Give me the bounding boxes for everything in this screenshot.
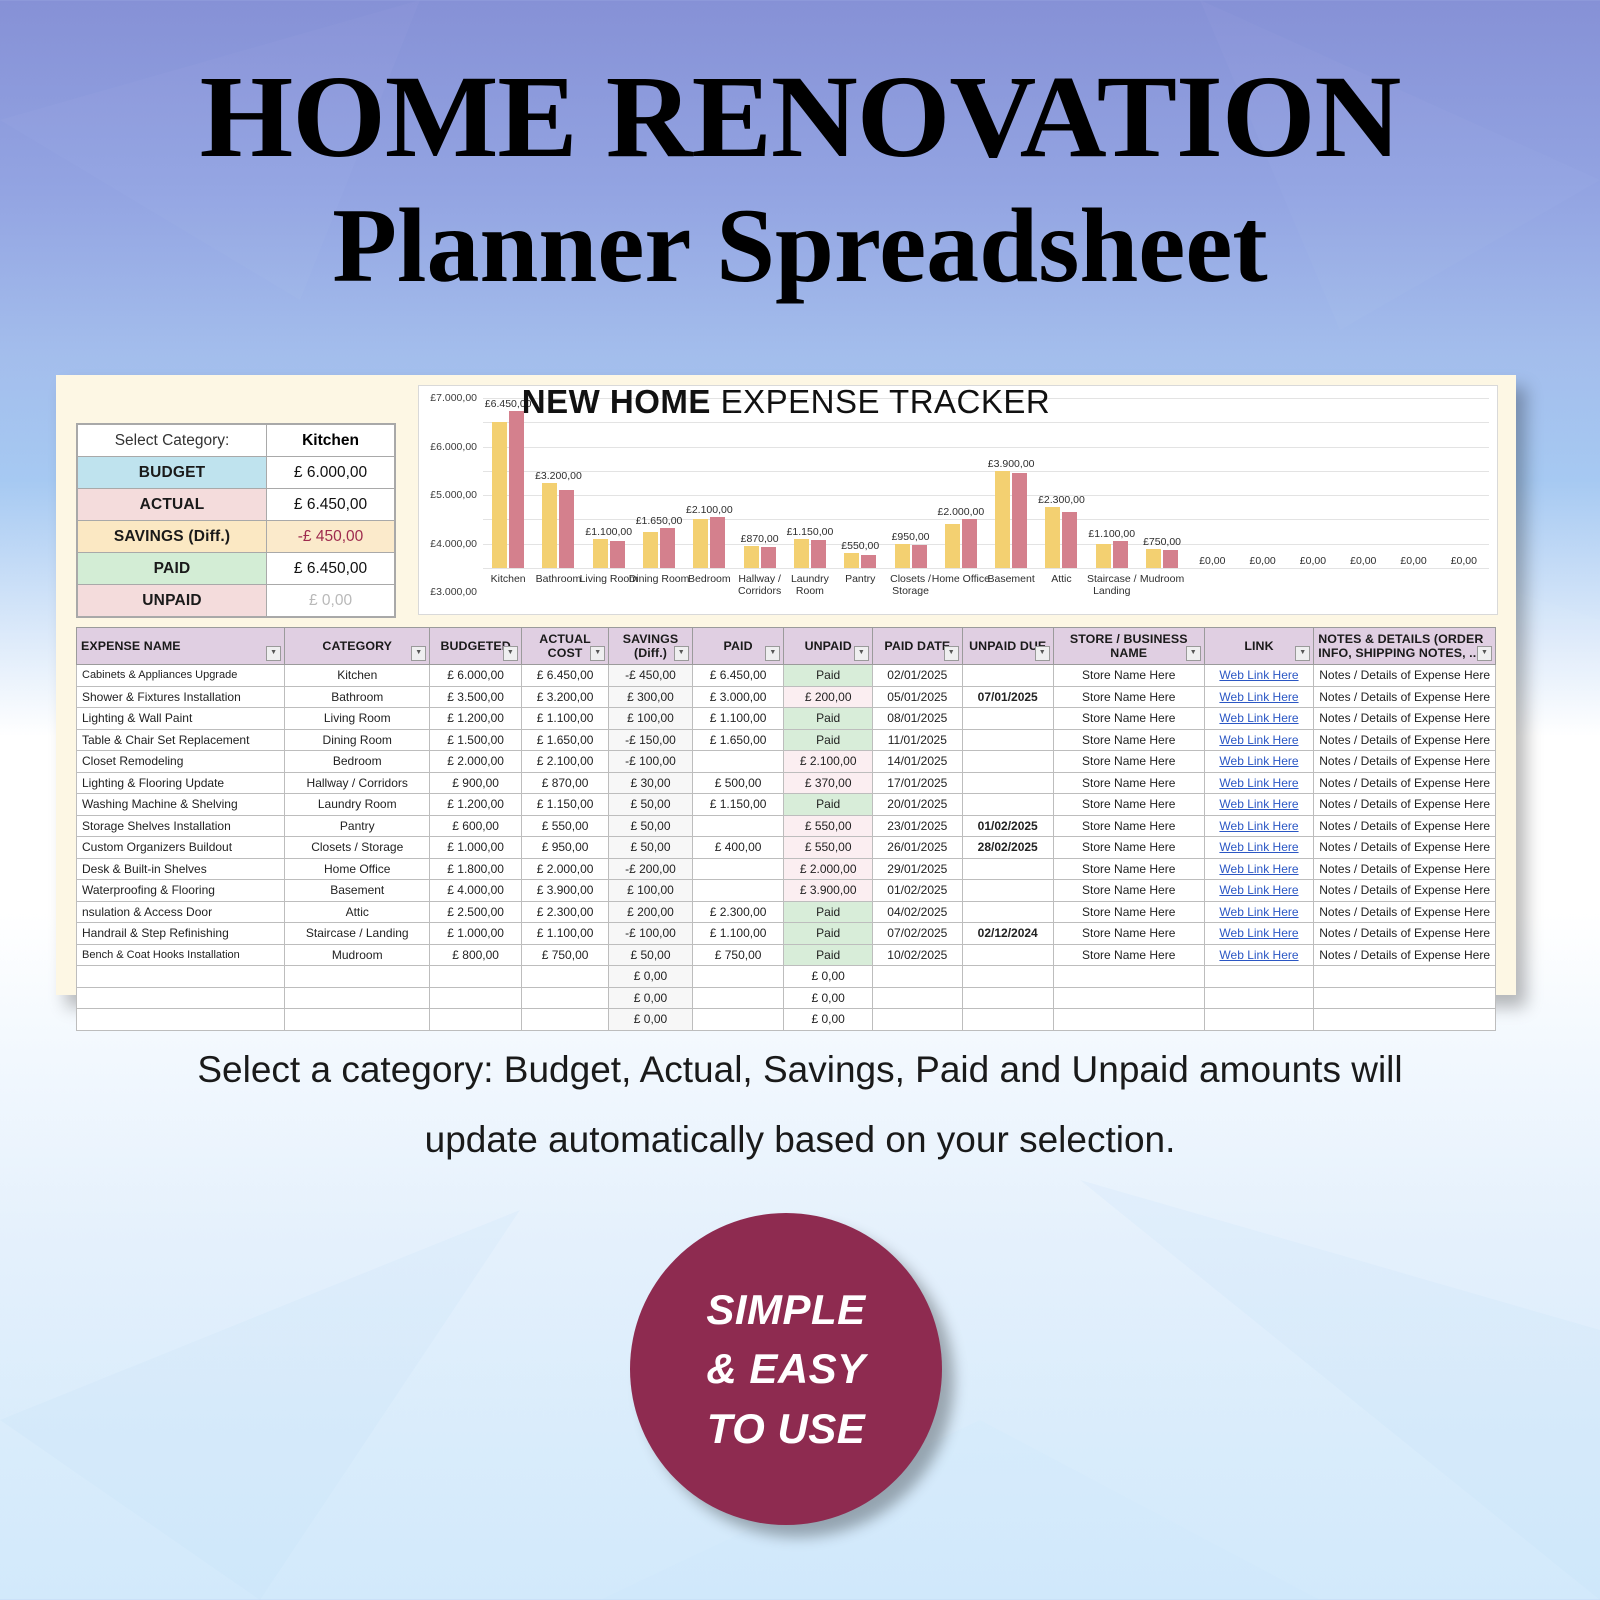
filter-icon[interactable]: ▼ [1186, 646, 1201, 661]
cell-unpaid: £ 2.100,00 [784, 751, 873, 773]
cell-store-name[interactable]: Store Name Here [1053, 729, 1204, 751]
chart-bar-group [994, 398, 1028, 568]
filter-icon[interactable]: ▼ [944, 646, 959, 661]
col-expense-name[interactable]: EXPENSE NAME▼ [77, 628, 285, 665]
category-summary-panel: Select Category: Kitchen BUDGET £ 6.000,… [76, 423, 396, 618]
cell-actual-cost[interactable]: £ 2.000,00 [521, 858, 608, 880]
filter-icon[interactable]: ▼ [590, 646, 605, 661]
cell-actual-cost[interactable]: £ 3.200,00 [521, 686, 608, 708]
chart-gridline: £1.000,00 [483, 544, 1489, 545]
cell-paid[interactable]: £ 500,00 [692, 772, 784, 794]
col-savings[interactable]: SAVINGS (Diff.)▼ [609, 628, 693, 665]
chart-data-label: £1.650,00 [636, 515, 683, 527]
cell-category[interactable] [285, 1009, 430, 1031]
cell-expense-name[interactable]: Closet Remodeling [77, 751, 285, 773]
cell-link[interactable]: Web Link Here [1204, 665, 1314, 687]
chart-y-tick: £3.000,00 [430, 586, 477, 598]
cell-notes[interactable]: Notes / Details of Expense Here [1314, 729, 1496, 751]
cell-actual-cost[interactable]: £ 6.450,00 [521, 665, 608, 687]
chart-bar-actual-cost [912, 545, 927, 568]
cell-category[interactable] [285, 966, 430, 988]
filter-icon[interactable]: ▼ [411, 646, 426, 661]
table-row[interactable]: Waterproofing & FlooringBasement£ 4.000,… [77, 880, 1496, 902]
cell-expense-name[interactable]: Handrail & Step Refinishing [77, 923, 285, 945]
spreadsheet-card: Select Category: Kitchen BUDGET £ 6.000,… [56, 375, 1516, 995]
chart-bar-budgeted [794, 539, 809, 568]
cell-category[interactable]: Closets / Storage [285, 837, 430, 859]
cell-actual-cost[interactable]: £ 1.150,00 [521, 794, 608, 816]
cell-savings: £ 100,00 [609, 880, 693, 902]
cell-actual-cost[interactable]: £ 1.100,00 [521, 923, 608, 945]
filter-icon[interactable]: ▼ [674, 646, 689, 661]
table-row[interactable]: nsulation & Access DoorAttic£ 2.500,00£ … [77, 901, 1496, 923]
cell-category[interactable]: Dining Room [285, 729, 430, 751]
filter-icon[interactable]: ▼ [266, 646, 281, 661]
cell-store-name[interactable]: Store Name Here [1053, 815, 1204, 837]
cell-paid-date[interactable]: 23/01/2025 [872, 815, 962, 837]
web-link[interactable]: Web Link Here [1219, 776, 1298, 790]
cell-link[interactable]: Web Link Here [1204, 772, 1314, 794]
cell-unpaid-due[interactable] [962, 665, 1053, 687]
cell-unpaid-due[interactable] [962, 794, 1053, 816]
cell-paid[interactable] [692, 815, 784, 837]
cell-link[interactable]: Web Link Here [1204, 858, 1314, 880]
cell-unpaid-due[interactable] [962, 880, 1053, 902]
chart-gridline: £5.000,00 [483, 447, 1489, 448]
cell-notes[interactable]: Notes / Details of Expense Here [1314, 751, 1496, 773]
cell-expense-name[interactable]: nsulation & Access Door [77, 901, 285, 923]
cell-paid[interactable] [692, 1009, 784, 1031]
cell-store-name[interactable]: Store Name Here [1053, 751, 1204, 773]
cell-unpaid-due[interactable] [962, 772, 1053, 794]
cell-expense-name[interactable]: Desk & Built-in Shelves [77, 858, 285, 880]
cell-actual-cost[interactable]: £ 550,00 [521, 815, 608, 837]
cell-expense-name[interactable]: Lighting & Wall Paint [77, 708, 285, 730]
cell-paid[interactable]: £ 1.100,00 [692, 923, 784, 945]
cell-store-name[interactable]: Store Name Here [1053, 772, 1204, 794]
cell-unpaid: £ 200,00 [784, 686, 873, 708]
table-row[interactable]: Storage Shelves InstallationPantry£ 600,… [77, 815, 1496, 837]
cell-budgeted[interactable]: £ 1.000,00 [430, 923, 522, 945]
cell-actual-cost[interactable] [521, 966, 608, 988]
col-budgeted[interactable]: BUDGETED▼ [430, 628, 522, 665]
cell-budgeted[interactable]: £ 6.000,00 [430, 665, 522, 687]
cell-store-name[interactable]: Store Name Here [1053, 837, 1204, 859]
web-link[interactable]: Web Link Here [1219, 883, 1298, 897]
web-link[interactable]: Web Link Here [1219, 926, 1298, 940]
cell-paid[interactable]: £ 1.100,00 [692, 708, 784, 730]
actual-label: ACTUAL [78, 489, 267, 521]
web-link[interactable]: Web Link Here [1219, 754, 1298, 768]
chart-data-label: £750,00 [1143, 536, 1181, 548]
chart-y-tick: £6.000,00 [430, 441, 477, 453]
cell-category[interactable]: Attic [285, 901, 430, 923]
cell-store-name[interactable] [1053, 987, 1204, 1009]
table-row[interactable]: Shower & Fixtures InstallationBathroom£ … [77, 686, 1496, 708]
cell-paid-date[interactable]: 17/01/2025 [872, 772, 962, 794]
cell-category[interactable]: Basement [285, 880, 430, 902]
cell-paid[interactable] [692, 966, 784, 988]
table-row[interactable]: Handrail & Step RefinishingStaircase / L… [77, 923, 1496, 945]
col-paid-date[interactable]: PAID DATE▼ [872, 628, 962, 665]
cell-notes[interactable] [1314, 987, 1496, 1009]
actual-value: £ 6.450,00 [267, 489, 395, 521]
cell-actual-cost[interactable]: £ 750,00 [521, 944, 608, 966]
table-row[interactable]: Lighting & Flooring UpdateHallway / Corr… [77, 772, 1496, 794]
cell-paid-date[interactable]: 04/02/2025 [872, 901, 962, 923]
cell-savings: £ 0,00 [609, 966, 693, 988]
cell-actual-cost[interactable]: £ 950,00 [521, 837, 608, 859]
web-link[interactable]: Web Link Here [1219, 819, 1298, 833]
cell-budgeted[interactable]: £ 1.500,00 [430, 729, 522, 751]
cell-expense-name[interactable]: Lighting & Flooring Update [77, 772, 285, 794]
cell-budgeted[interactable]: £ 1.200,00 [430, 708, 522, 730]
cell-unpaid-due[interactable] [962, 708, 1053, 730]
cell-budgeted[interactable]: £ 800,00 [430, 944, 522, 966]
cell-store-name[interactable]: Store Name Here [1053, 686, 1204, 708]
chart-gridline: £4.000,00 [483, 471, 1489, 472]
cell-paid[interactable]: £ 3.000,00 [692, 686, 784, 708]
chart-bar-budgeted [945, 524, 960, 568]
cell-unpaid-due[interactable] [962, 901, 1053, 923]
cell-expense-name[interactable]: Shower & Fixtures Installation [77, 686, 285, 708]
cell-category[interactable]: Staircase / Landing [285, 923, 430, 945]
cell-unpaid-due[interactable]: 07/01/2025 [962, 686, 1053, 708]
cell-budgeted[interactable] [430, 1009, 522, 1031]
unpaid-label: UNPAID [78, 585, 267, 617]
cell-paid[interactable]: £ 6.450,00 [692, 665, 784, 687]
web-link[interactable]: Web Link Here [1219, 711, 1298, 725]
chart-bar-group [541, 398, 575, 568]
savings-value: -£ 450,00 [267, 521, 395, 553]
table-header-row: EXPENSE NAME▼ CATEGORY▼ BUDGETED▼ ACTUAL… [77, 628, 1496, 665]
web-link[interactable]: Web Link Here [1219, 668, 1298, 682]
cell-link[interactable]: Web Link Here [1204, 815, 1314, 837]
cell-budgeted[interactable]: £ 1.000,00 [430, 837, 522, 859]
chart-data-label: £550,00 [841, 540, 879, 552]
cell-actual-cost[interactable]: £ 2.100,00 [521, 751, 608, 773]
cell-notes[interactable]: Notes / Details of Expense Here [1314, 708, 1496, 730]
cell-paid[interactable] [692, 858, 784, 880]
table-row[interactable]: £ 0,00£ 0,00 [77, 966, 1496, 988]
badge-line-3: TO USE [707, 1399, 866, 1459]
cell-savings: £ 100,00 [609, 708, 693, 730]
cell-notes[interactable]: Notes / Details of Expense Here [1314, 858, 1496, 880]
cell-link[interactable]: Web Link Here [1204, 729, 1314, 751]
cell-budgeted[interactable]: £ 600,00 [430, 815, 522, 837]
cell-unpaid-due[interactable]: 01/02/2025 [962, 815, 1053, 837]
cell-store-name[interactable] [1053, 966, 1204, 988]
table-row[interactable]: Custom Organizers BuildoutClosets / Stor… [77, 837, 1496, 859]
cell-unpaid-due[interactable]: 02/12/2024 [962, 923, 1053, 945]
cell-actual-cost[interactable]: £ 1.100,00 [521, 708, 608, 730]
cell-paid-date[interactable]: 20/01/2025 [872, 794, 962, 816]
cell-store-name[interactable] [1053, 1009, 1204, 1031]
summary-row-select[interactable]: Select Category: Kitchen [78, 425, 395, 457]
col-actual-cost[interactable]: ACTUAL COST▼ [521, 628, 608, 665]
cell-notes[interactable]: Notes / Details of Expense Here [1314, 944, 1496, 966]
chart-bar-actual-cost [559, 490, 574, 568]
chart-title-bold: NEW HOME [522, 383, 711, 420]
chart-bar-actual-cost [509, 411, 524, 568]
cell-category[interactable]: Bedroom [285, 751, 430, 773]
filter-icon[interactable]: ▼ [854, 646, 869, 661]
chart-bar-group [1296, 398, 1330, 568]
cell-store-name[interactable]: Store Name Here [1053, 794, 1204, 816]
cell-actual-cost[interactable]: £ 2.300,00 [521, 901, 608, 923]
chart-bar-budgeted [844, 553, 859, 568]
cell-link[interactable]: Web Link Here [1204, 901, 1314, 923]
web-link[interactable]: Web Link Here [1219, 862, 1298, 876]
cell-notes[interactable]: Notes / Details of Expense Here [1314, 901, 1496, 923]
web-link[interactable]: Web Link Here [1219, 948, 1298, 962]
chart-bar-group [1447, 398, 1481, 568]
cell-link[interactable]: Web Link Here [1204, 923, 1314, 945]
badge-line-2: & EASY [706, 1339, 865, 1399]
table-row[interactable]: £ 0,00£ 0,00 [77, 987, 1496, 1009]
chart-bar-actual-cost [1163, 550, 1178, 568]
col-link[interactable]: LINK▼ [1204, 628, 1314, 665]
table-row[interactable]: £ 0,00£ 0,00 [77, 1009, 1496, 1031]
cell-unpaid-due[interactable] [962, 966, 1053, 988]
chart-plot-area: £0,00£1.000,00£2.000,00£3.000,00£4.000,0… [483, 398, 1489, 568]
cell-notes[interactable]: Notes / Details of Expense Here [1314, 686, 1496, 708]
cell-paid-date[interactable]: 07/02/2025 [872, 923, 962, 945]
filter-icon[interactable]: ▼ [765, 646, 780, 661]
summary-row-budget: BUDGET £ 6.000,00 [78, 457, 395, 489]
cell-unpaid: £ 0,00 [784, 966, 873, 988]
chart-data-label: £0,00 [1300, 555, 1326, 567]
cell-link[interactable]: Web Link Here [1204, 751, 1314, 773]
cell-store-name[interactable]: Store Name Here [1053, 901, 1204, 923]
caption-line-2: update automatically based on your selec… [90, 1105, 1510, 1175]
cell-actual-cost[interactable]: £ 1.650,00 [521, 729, 608, 751]
cell-savings: £ 200,00 [609, 901, 693, 923]
cell-paid-date[interactable]: 14/01/2025 [872, 751, 962, 773]
cell-category[interactable]: Hallway / Corridors [285, 772, 430, 794]
cell-expense-name[interactable]: Storage Shelves Installation [77, 815, 285, 837]
cell-actual-cost[interactable] [521, 1009, 608, 1031]
cell-unpaid: Paid [784, 708, 873, 730]
cell-category[interactable]: Living Room [285, 708, 430, 730]
cell-link[interactable] [1204, 966, 1314, 988]
table-row[interactable]: Cabinets & Appliances UpgradeKitchen£ 6.… [77, 665, 1496, 687]
cell-unpaid: £ 3.900,00 [784, 880, 873, 902]
cell-paid-date[interactable]: 29/01/2025 [872, 858, 962, 880]
cell-unpaid-due[interactable] [962, 751, 1053, 773]
cell-store-name[interactable]: Store Name Here [1053, 880, 1204, 902]
col-store-name[interactable]: STORE / BUSINESS NAME▼ [1053, 628, 1204, 665]
chart-bar-actual-cost [660, 528, 675, 568]
title-line-2: Planner Spreadsheet [0, 190, 1600, 301]
cell-savings: -£ 150,00 [609, 729, 693, 751]
cell-savings: £ 50,00 [609, 815, 693, 837]
cell-paid-date[interactable]: 11/01/2025 [872, 729, 962, 751]
summary-row-savings: SAVINGS (Diff.) -£ 450,00 [78, 521, 395, 553]
cell-unpaid: £ 550,00 [784, 837, 873, 859]
col-notes[interactable]: NOTES & DETAILS (ORDER INFO, SHIPPING NO… [1314, 628, 1496, 665]
cell-expense-name[interactable]: Custom Organizers Buildout [77, 837, 285, 859]
cell-unpaid: Paid [784, 729, 873, 751]
cell-paid[interactable] [692, 880, 784, 902]
cell-budgeted[interactable]: £ 900,00 [430, 772, 522, 794]
cell-category[interactable]: Mudroom [285, 944, 430, 966]
chart-bar-group [1397, 398, 1431, 568]
cell-link[interactable]: Web Link Here [1204, 837, 1314, 859]
cell-expense-name[interactable]: Waterproofing & Flooring [77, 880, 285, 902]
cell-paid-date[interactable]: 10/02/2025 [872, 944, 962, 966]
cell-expense-name[interactable] [77, 1009, 285, 1031]
cell-paid-date[interactable]: 05/01/2025 [872, 686, 962, 708]
expense-table: EXPENSE NAME▼ CATEGORY▼ BUDGETED▼ ACTUAL… [76, 627, 1496, 1031]
cell-paid-date[interactable] [872, 987, 962, 1009]
table-row[interactable]: Bench & Coat Hooks InstallationMudroom£ … [77, 944, 1496, 966]
cell-category[interactable]: Pantry [285, 815, 430, 837]
cell-store-name[interactable]: Store Name Here [1053, 923, 1204, 945]
cell-notes[interactable] [1314, 1009, 1496, 1031]
cell-paid-date[interactable]: 01/02/2025 [872, 880, 962, 902]
cell-notes[interactable]: Notes / Details of Expense Here [1314, 880, 1496, 902]
cell-paid[interactable]: £ 750,00 [692, 944, 784, 966]
cell-category[interactable]: Bathroom [285, 686, 430, 708]
chart-title-light: EXPENSE TRACKER [711, 383, 1050, 420]
cell-budgeted[interactable] [430, 966, 522, 988]
chart-bar-budgeted [542, 483, 557, 568]
cell-link[interactable] [1204, 1009, 1314, 1031]
web-link[interactable]: Web Link Here [1219, 797, 1298, 811]
web-link[interactable]: Web Link Here [1219, 733, 1298, 747]
cell-link[interactable]: Web Link Here [1204, 708, 1314, 730]
cell-category[interactable]: Home Office [285, 858, 430, 880]
cell-budgeted[interactable] [430, 987, 522, 1009]
cell-savings: -£ 450,00 [609, 665, 693, 687]
table-row[interactable]: Lighting & Wall PaintLiving Room£ 1.200,… [77, 708, 1496, 730]
table-row[interactable]: Closet RemodelingBedroom£ 2.000,00£ 2.10… [77, 751, 1496, 773]
cell-paid[interactable]: £ 2.300,00 [692, 901, 784, 923]
chart-bar-budgeted [1096, 544, 1111, 568]
table-row[interactable]: Washing Machine & ShelvingLaundry Room£ … [77, 794, 1496, 816]
cell-notes[interactable]: Notes / Details of Expense Here [1314, 815, 1496, 837]
cell-store-name[interactable]: Store Name Here [1053, 858, 1204, 880]
cell-paid-date[interactable] [872, 966, 962, 988]
cell-paid[interactable]: £ 1.650,00 [692, 729, 784, 751]
cell-paid-date[interactable]: 08/01/2025 [872, 708, 962, 730]
cell-expense-name[interactable]: Bench & Coat Hooks Installation [77, 944, 285, 966]
cell-actual-cost[interactable]: £ 870,00 [521, 772, 608, 794]
page-title: HOME RENOVATION Planner Spreadsheet [0, 58, 1600, 301]
filter-icon[interactable]: ▼ [1477, 646, 1492, 661]
cell-link[interactable] [1204, 987, 1314, 1009]
cell-unpaid-due[interactable] [962, 729, 1053, 751]
chart-data-label: £2.000,00 [937, 506, 984, 518]
cell-budgeted[interactable]: £ 4.000,00 [430, 880, 522, 902]
web-link[interactable]: Web Link Here [1219, 905, 1298, 919]
chart-bar-budgeted [693, 519, 708, 568]
cell-budgeted[interactable]: £ 3.500,00 [430, 686, 522, 708]
filter-icon[interactable]: ▼ [503, 646, 518, 661]
table-row[interactable]: Table & Chair Set ReplacementDining Room… [77, 729, 1496, 751]
cell-paid[interactable]: £ 1.150,00 [692, 794, 784, 816]
cell-budgeted[interactable]: £ 2.000,00 [430, 751, 522, 773]
cell-expense-name[interactable] [77, 987, 285, 1009]
chart-bar-actual-cost [710, 517, 725, 568]
summary-row-actual: ACTUAL £ 6.450,00 [78, 489, 395, 521]
cell-category[interactable] [285, 987, 430, 1009]
web-link[interactable]: Web Link Here [1219, 690, 1298, 704]
chart-bar-budgeted [643, 532, 658, 568]
cell-unpaid-due[interactable] [962, 1009, 1053, 1031]
filter-icon[interactable]: ▼ [1295, 646, 1310, 661]
cell-category[interactable]: Laundry Room [285, 794, 430, 816]
cell-unpaid-due[interactable]: 28/02/2025 [962, 837, 1053, 859]
chart-bar-group [1346, 398, 1380, 568]
cell-store-name[interactable]: Store Name Here [1053, 708, 1204, 730]
chart-bar-group [692, 398, 726, 568]
filter-icon[interactable]: ▼ [1035, 646, 1050, 661]
chart-title: NEW HOME EXPENSE TRACKER [56, 383, 1516, 421]
cell-store-name[interactable]: Store Name Here [1053, 665, 1204, 687]
cell-budgeted[interactable]: £ 1.800,00 [430, 858, 522, 880]
cell-notes[interactable]: Notes / Details of Expense Here [1314, 772, 1496, 794]
chart-bar-actual-cost [1012, 473, 1027, 568]
cell-notes[interactable]: Notes / Details of Expense Here [1314, 923, 1496, 945]
cell-notes[interactable] [1314, 966, 1496, 988]
chart-bar-group [491, 398, 525, 568]
cell-actual-cost[interactable] [521, 987, 608, 1009]
cell-budgeted[interactable]: £ 1.200,00 [430, 794, 522, 816]
cell-expense-name[interactable]: Cabinets & Appliances Upgrade [77, 665, 285, 687]
col-paid[interactable]: PAID▼ [692, 628, 784, 665]
cell-unpaid: £ 2.000,00 [784, 858, 873, 880]
chart-bar-budgeted [895, 544, 910, 568]
cell-budgeted[interactable]: £ 2.500,00 [430, 901, 522, 923]
cell-paid[interactable] [692, 751, 784, 773]
cell-unpaid: Paid [784, 944, 873, 966]
cell-paid-date[interactable] [872, 1009, 962, 1031]
cell-expense-name[interactable]: Washing Machine & Shelving [77, 794, 285, 816]
cell-link[interactable]: Web Link Here [1204, 880, 1314, 902]
cell-unpaid-due[interactable] [962, 944, 1053, 966]
cell-unpaid-due[interactable] [962, 987, 1053, 1009]
col-unpaid[interactable]: UNPAID▼ [784, 628, 873, 665]
cell-paid[interactable]: £ 400,00 [692, 837, 784, 859]
web-link[interactable]: Web Link Here [1219, 840, 1298, 854]
cell-category[interactable]: Kitchen [285, 665, 430, 687]
cell-link[interactable]: Web Link Here [1204, 794, 1314, 816]
cell-link[interactable]: Web Link Here [1204, 686, 1314, 708]
cell-notes[interactable]: Notes / Details of Expense Here [1314, 665, 1496, 687]
cell-actual-cost[interactable]: £ 3.900,00 [521, 880, 608, 902]
cell-savings: £ 300,00 [609, 686, 693, 708]
cell-notes[interactable]: Notes / Details of Expense Here [1314, 837, 1496, 859]
chart-data-label: £1.150,00 [787, 526, 834, 538]
cell-unpaid: Paid [784, 665, 873, 687]
cell-expense-name[interactable]: Table & Chair Set Replacement [77, 729, 285, 751]
cell-unpaid-due[interactable] [962, 858, 1053, 880]
cell-link[interactable]: Web Link Here [1204, 944, 1314, 966]
selected-category-value[interactable]: Kitchen [267, 425, 395, 457]
cell-notes[interactable]: Notes / Details of Expense Here [1314, 794, 1496, 816]
cell-savings: £ 50,00 [609, 837, 693, 859]
cell-expense-name[interactable] [77, 966, 285, 988]
cell-paid-date[interactable]: 26/01/2025 [872, 837, 962, 859]
table-row[interactable]: Desk & Built-in ShelvesHome Office£ 1.80… [77, 858, 1496, 880]
cell-paid[interactable] [692, 987, 784, 1009]
cell-paid-date[interactable]: 02/01/2025 [872, 665, 962, 687]
col-unpaid-due[interactable]: UNPAID DUE▼ [962, 628, 1053, 665]
col-category[interactable]: CATEGORY▼ [285, 628, 430, 665]
cell-store-name[interactable]: Store Name Here [1053, 944, 1204, 966]
